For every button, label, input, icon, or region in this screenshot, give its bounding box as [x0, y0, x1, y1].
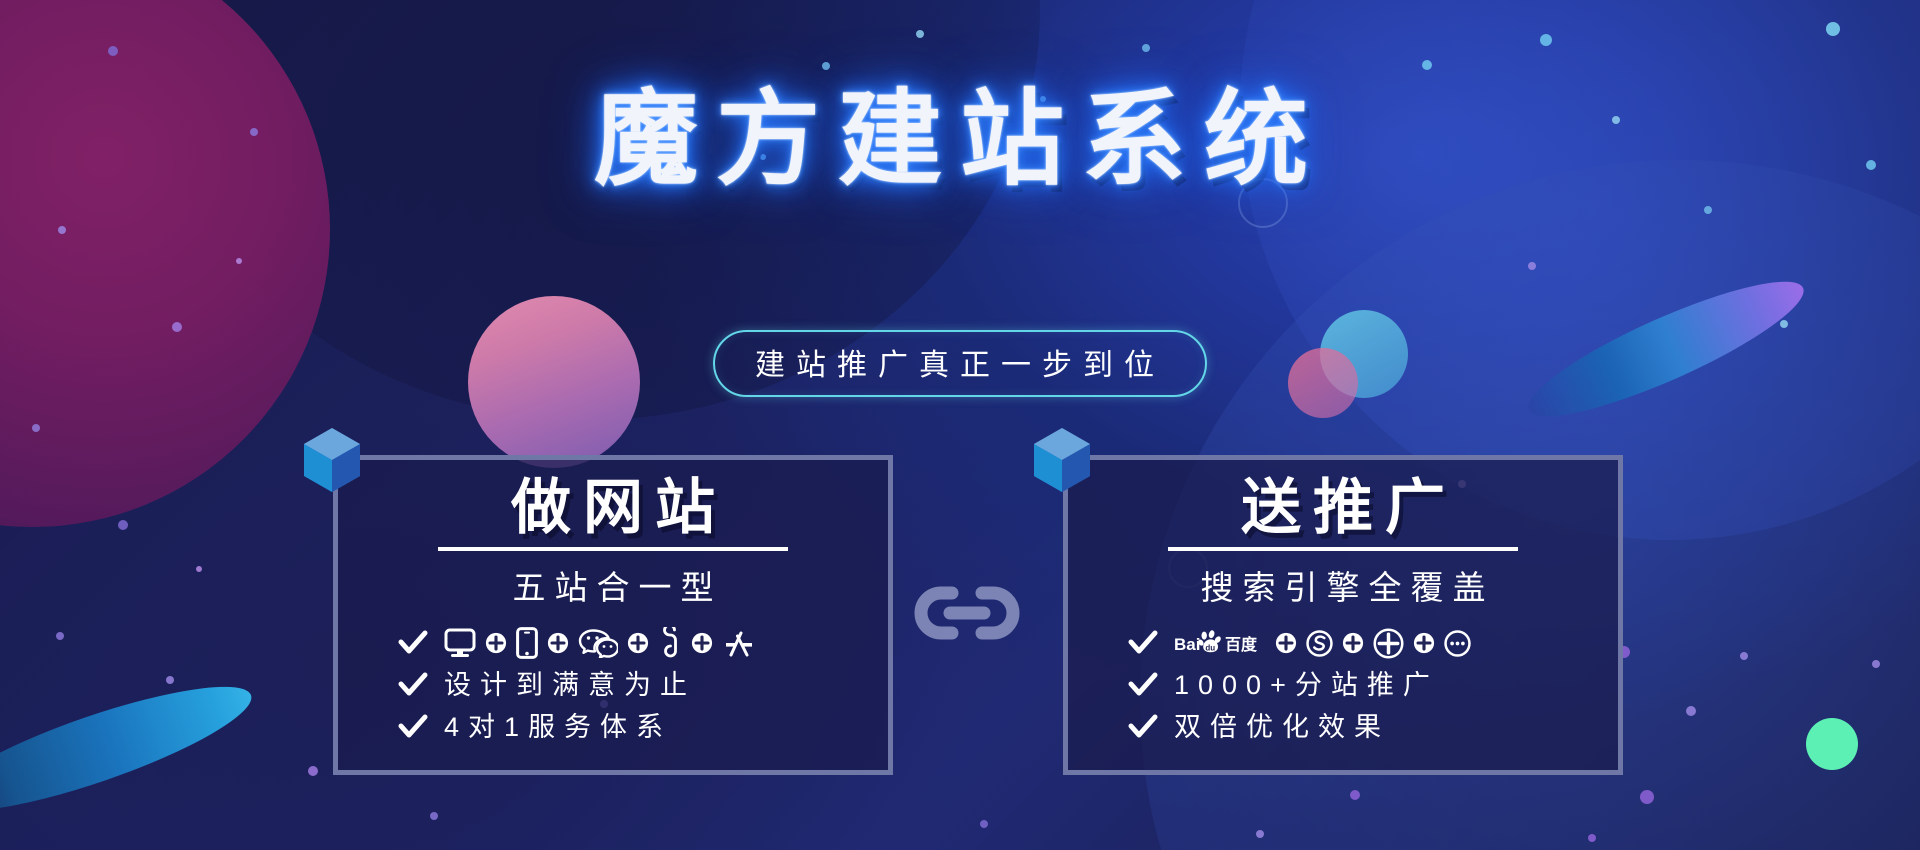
star-dot	[430, 812, 438, 820]
feature-label: 4对1服务体系	[444, 714, 672, 741]
promo-banner: 魔方建站系统 建站推广真正一步到位 做网站 五站合一型	[0, 0, 1920, 850]
page-title: 魔方建站系统	[0, 88, 1920, 192]
qq-icon	[658, 627, 682, 659]
star-dot	[980, 820, 988, 828]
title-divider	[1168, 547, 1518, 551]
search-engine-icon-strip: Bai du 百度	[1174, 628, 1471, 659]
star-dot	[196, 566, 202, 572]
mobile-phone-icon	[516, 627, 538, 659]
star-dot	[118, 520, 128, 530]
svg-text:Bai: Bai	[1174, 635, 1200, 654]
plus-circle-icon	[485, 632, 507, 654]
star-dot	[822, 62, 830, 70]
star-dot	[1640, 790, 1654, 804]
comet-streak-left-decoration	[0, 664, 262, 834]
app-store-icon	[722, 628, 756, 658]
feature-row-platforms	[398, 623, 888, 663]
plus-circle-icon	[691, 632, 713, 654]
check-icon	[398, 672, 428, 698]
plus-circle-icon	[1275, 632, 1297, 654]
more-dots-icon	[1444, 630, 1471, 657]
check-icon	[1128, 630, 1158, 656]
feature-row-optimization: 双倍优化效果	[1128, 707, 1618, 747]
subtitle-container: 建站推广真正一步到位	[0, 330, 1920, 397]
plus-circle-icon	[627, 632, 649, 654]
360-search-icon	[1373, 628, 1404, 659]
chain-link-icon	[912, 580, 1022, 646]
star-dot	[1142, 44, 1150, 52]
card-free-promotion[interactable]: 送推广 搜索引擎全覆盖 Bai	[1063, 455, 1623, 775]
baidu-logo-icon: Bai du 百度	[1174, 630, 1266, 656]
star-dot	[1540, 34, 1552, 46]
plus-circle-icon	[1342, 632, 1364, 654]
star-dot	[236, 258, 242, 264]
plus-circle-icon	[1413, 632, 1435, 654]
star-dot	[1872, 660, 1880, 668]
monitor-icon	[444, 628, 476, 658]
star-dot	[1686, 706, 1696, 716]
feature-label: 设计到满意为止	[444, 672, 696, 699]
star-dot	[1826, 22, 1840, 36]
star-dot	[1588, 834, 1596, 842]
check-icon	[1128, 714, 1158, 740]
feature-label: 1000+分站推广	[1174, 672, 1439, 699]
feature-row-search-engines: Bai du 百度	[1128, 623, 1618, 663]
card-title: 送推广	[1229, 476, 1457, 539]
star-dot	[1740, 652, 1748, 660]
subtitle-pill: 建站推广真正一步到位	[713, 330, 1207, 397]
mint-dot-decoration	[1806, 718, 1858, 770]
card-title: 做网站	[499, 476, 727, 539]
star-dot	[32, 424, 40, 432]
star-dot	[1780, 320, 1788, 328]
feature-row-service: 4对1服务体系	[398, 707, 888, 747]
star-dot	[916, 30, 924, 38]
star-dot	[1422, 60, 1432, 70]
star-dot	[108, 46, 118, 56]
purple-blob-decoration	[0, 0, 330, 527]
star-dot	[1350, 790, 1360, 800]
star-dot	[56, 632, 64, 640]
check-icon	[398, 714, 428, 740]
card-make-website[interactable]: 做网站 五站合一型	[333, 455, 893, 775]
feature-label: 双倍优化效果	[1174, 714, 1390, 741]
wechat-icon	[578, 628, 618, 658]
feature-list: Bai du 百度	[1068, 623, 1618, 749]
sogou-icon	[1306, 630, 1333, 657]
card-subtitle: 五站合一型	[504, 561, 723, 609]
feature-row-substations: 1000+分站推广	[1128, 665, 1618, 705]
feature-list: 设计到满意为止 4对1服务体系	[338, 623, 888, 749]
platform-icon-strip	[444, 627, 756, 659]
plus-circle-icon	[547, 632, 569, 654]
svg-text:du: du	[1205, 644, 1215, 653]
star-dot	[166, 676, 174, 684]
star-dot	[1528, 262, 1536, 270]
star-dot	[1704, 206, 1712, 214]
title-divider	[438, 547, 788, 551]
check-icon	[398, 630, 428, 656]
star-dot	[308, 766, 318, 776]
svg-text:百度: 百度	[1225, 635, 1258, 654]
star-dot	[58, 226, 66, 234]
check-icon	[1128, 672, 1158, 698]
star-dot	[1256, 830, 1264, 838]
feature-row-design: 设计到满意为止	[398, 665, 888, 705]
card-subtitle: 搜索引擎全覆盖	[1192, 561, 1495, 609]
